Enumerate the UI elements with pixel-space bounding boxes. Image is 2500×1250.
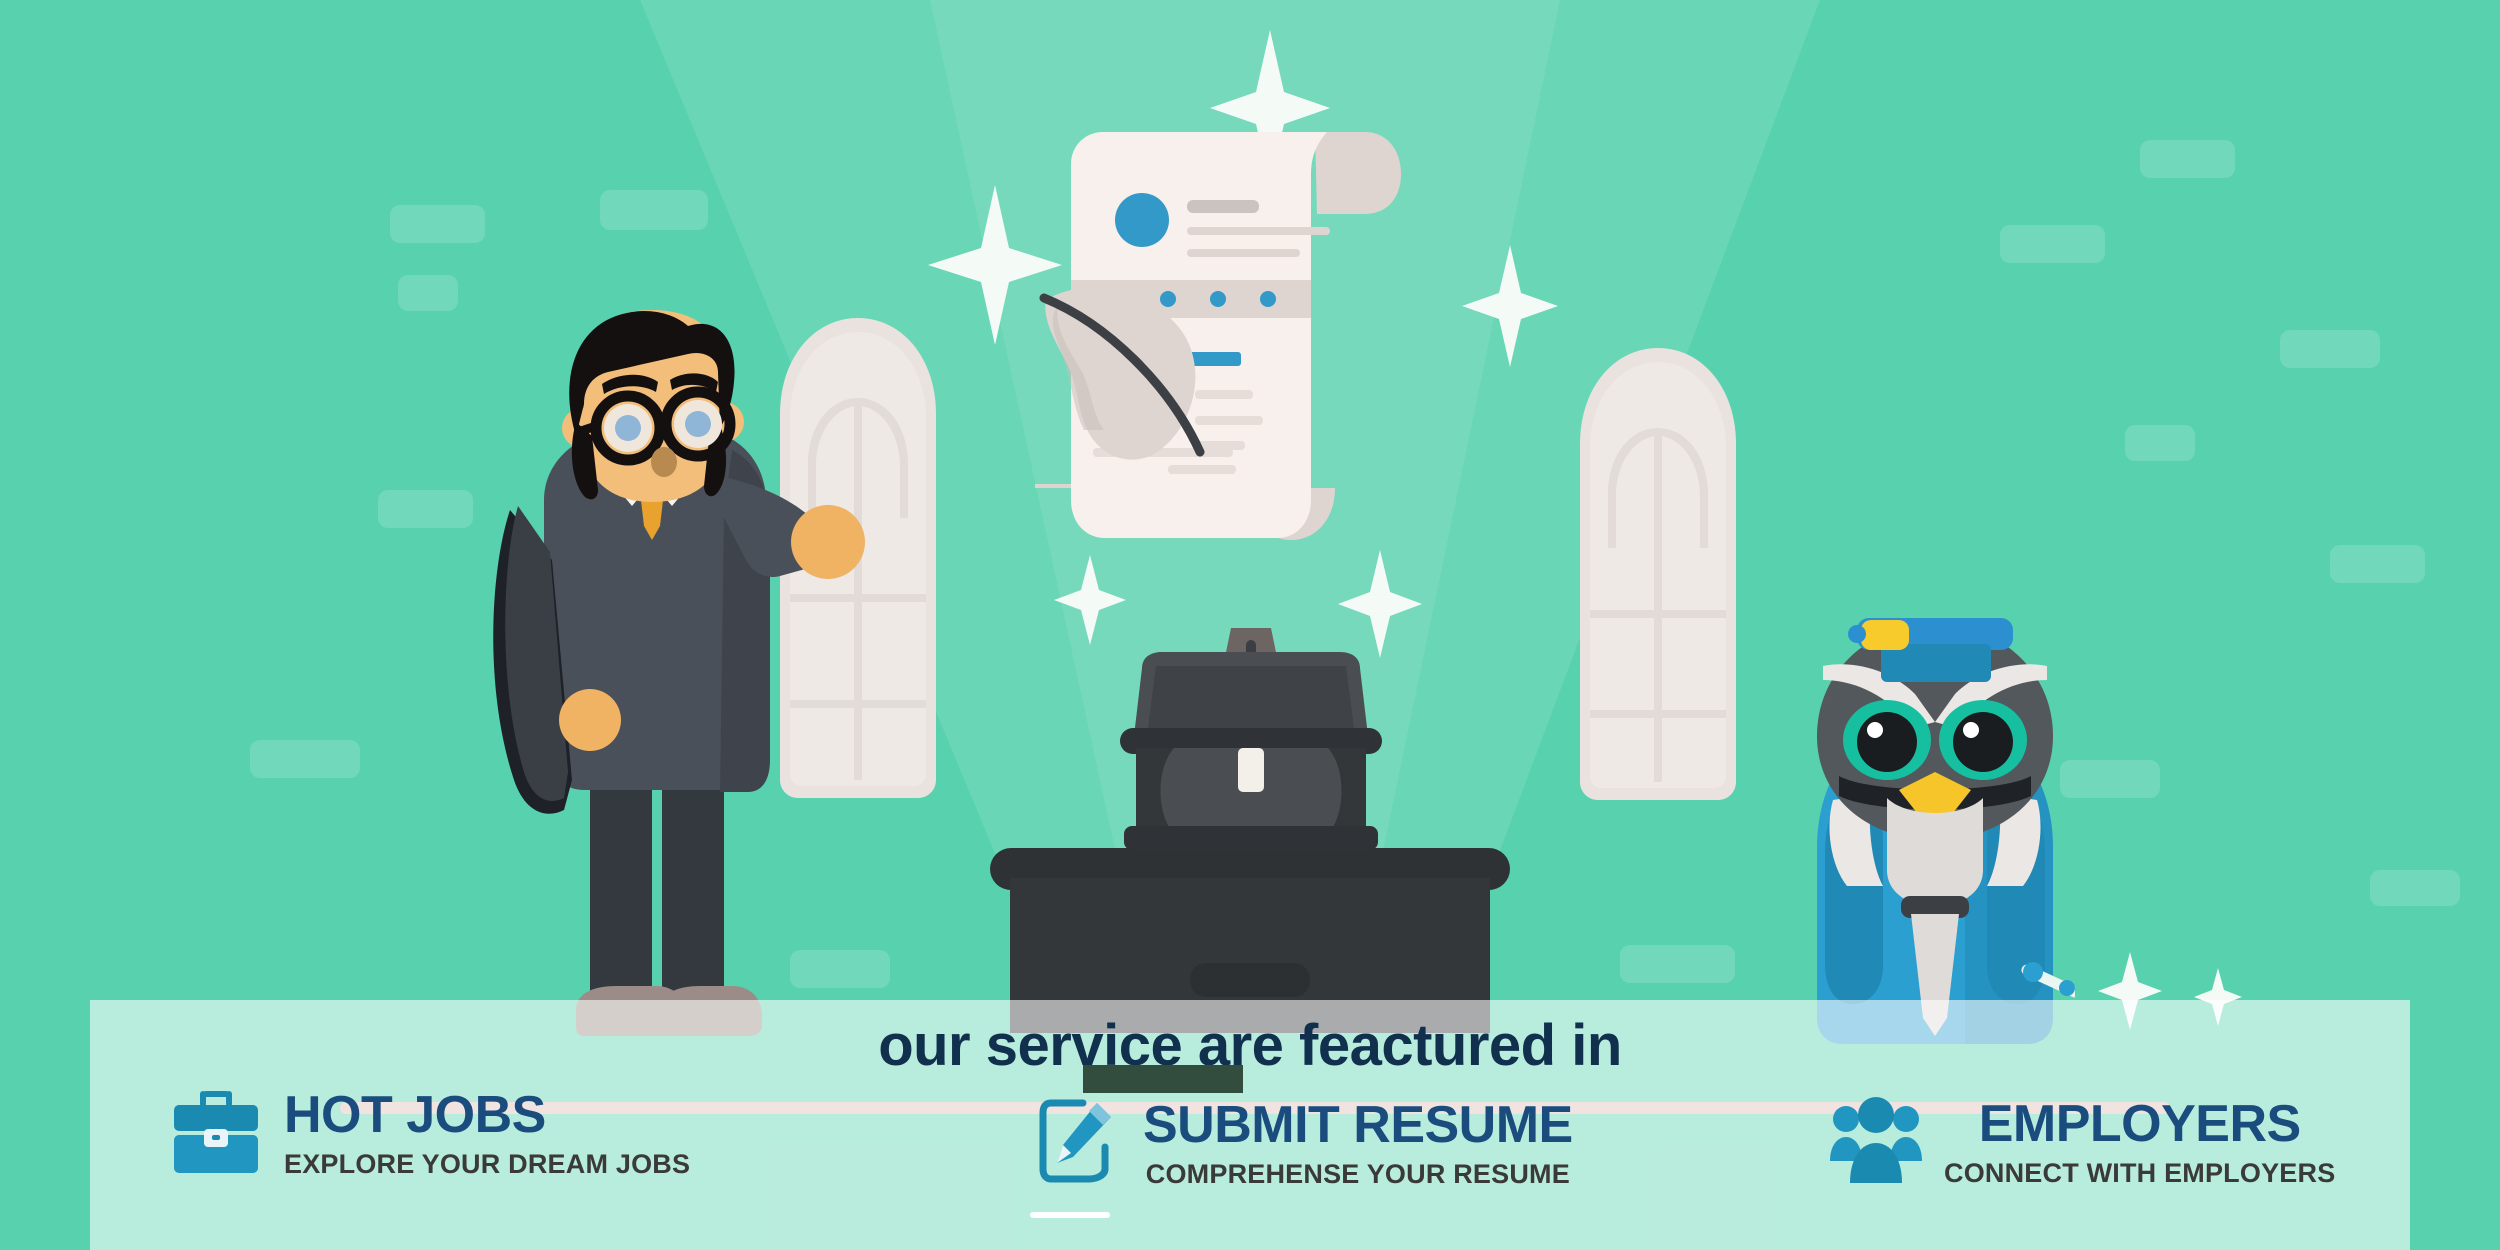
avatar <box>1115 193 1169 247</box>
feature-subtitle: COMPREHENSE YOUR RESUME <box>1146 1161 1570 1188</box>
gothic-window-right <box>1578 348 1738 800</box>
feature-title: EMPLOYERS <box>1979 1098 2301 1150</box>
feature-subtitle: EXPLORE YOUR DREAM JOBS <box>284 1151 690 1178</box>
edit-document-icon <box>1035 1095 1121 1192</box>
banner-headline: our service are feactured in <box>90 1012 2410 1079</box>
briefcase-icon <box>170 1085 262 1182</box>
quill-feather-icon <box>1036 280 1276 480</box>
feature-item-hot-jobs[interactable]: HOT JOBS EXPLORE YOUR DREAM JOBS <box>170 1085 690 1182</box>
treasure-chest <box>1106 628 1396 858</box>
accent-bar <box>1083 1065 1243 1093</box>
sparkle-icon <box>1462 245 1558 367</box>
people-group-icon <box>1830 1095 1922 1190</box>
bottom-tick-mark <box>1030 1212 1110 1218</box>
graduate-owl-mascot <box>1795 618 2075 1050</box>
feature-item-submit-resume[interactable]: SUBMIT RESUME COMPREHENSE YOUR RESUME <box>1035 1095 1573 1192</box>
feature-title: HOT JOBS <box>284 1089 546 1141</box>
feature-item-employers[interactable]: EMPLOYERS CONNECT WITH EMPLOYERS <box>1830 1095 2335 1190</box>
feature-title: SUBMIT RESUME <box>1143 1099 1573 1151</box>
business-man-character <box>480 310 900 1070</box>
illustration-canvas: our service are feactured in HOT JOBS EX… <box>0 0 2500 1250</box>
feature-subtitle: CONNECT WITH EMPLOYERS <box>1944 1160 2335 1187</box>
